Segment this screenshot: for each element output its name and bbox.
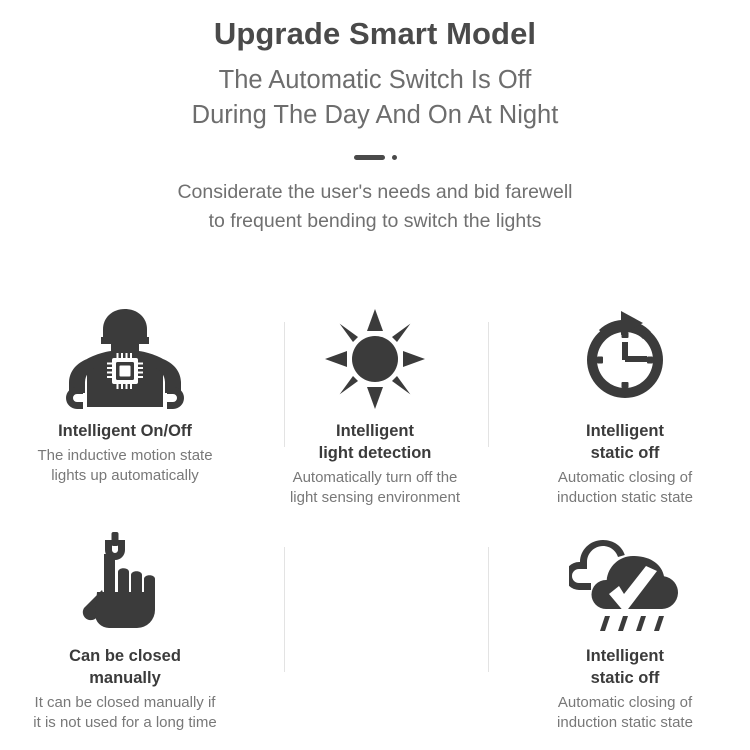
feature-title: Can be closed manually <box>69 645 181 689</box>
divider-dash <box>354 155 385 160</box>
feature-title-line-1: Intelligent <box>586 420 664 442</box>
feature-title: Intelligent static off <box>586 420 664 464</box>
feature-item-intelligent-static-off-1: Intelligent static off Automatic closing… <box>500 300 750 525</box>
feature-description-line-2: light sensing environment <box>290 488 460 508</box>
feature-description-line-1: Automatic closing of <box>557 468 693 488</box>
feature-item-light-detection: Intelligent light detection Automaticall… <box>250 300 500 525</box>
feature-title-line-2: manually <box>69 667 181 689</box>
feature-description: The inductive motion state lights up aut… <box>37 446 212 486</box>
feature-row-2: Can be closed manually It can be closed … <box>0 525 750 750</box>
page-subtitle-line-2: During The Day And On At Night <box>0 98 750 133</box>
feature-title-line-2: static off <box>586 442 664 464</box>
feature-item-intelligent-on-off: Intelligent On/Off The inductive motion … <box>0 300 250 525</box>
feature-title: Intelligent static off <box>586 645 664 689</box>
page-title: Upgrade Smart Model <box>0 12 750 56</box>
tagline-line-2: to frequent bending to switch the lights <box>0 207 750 236</box>
feature-description-line-1: It can be closed manually if <box>33 693 216 713</box>
feature-title-line-1: Can be closed <box>69 645 181 667</box>
feature-title-line-2: static off <box>586 667 664 689</box>
divider-dot <box>392 155 397 160</box>
tagline: Considerate the user's needs and bid far… <box>0 178 750 236</box>
feature-title: Intelligent On/Off <box>58 420 192 442</box>
feature-row-1: Intelligent On/Off The inductive motion … <box>0 300 750 525</box>
feature-item-manual-close: Can be closed manually It can be closed … <box>0 525 250 750</box>
hero-section: Upgrade Smart Model The Automatic Switch… <box>0 0 750 236</box>
feature-title-line-1: Intelligent <box>319 420 432 442</box>
dash-dot-divider <box>340 151 410 163</box>
feature-description-line-1: The inductive motion state <box>37 446 212 466</box>
feature-title: Intelligent light detection <box>319 420 432 464</box>
clock-refresh-icon <box>575 300 675 418</box>
feature-grid: Intelligent On/Off The inductive motion … <box>0 300 750 750</box>
feature-description-line-2: induction static state <box>557 488 693 508</box>
feature-description-line-2: it is not used for a long time <box>33 713 216 733</box>
feature-description: Automatic closing of induction static st… <box>557 468 693 508</box>
feature-description: Automatic closing of induction static st… <box>557 693 693 733</box>
feature-description-line-2: induction static state <box>557 713 693 733</box>
page-subtitle-line-1: The Automatic Switch Is Off <box>0 63 750 98</box>
product-feature-page: Upgrade Smart Model The Automatic Switch… <box>0 0 750 750</box>
rain-cloud-check-icon <box>569 525 681 643</box>
sun-icon <box>325 300 425 418</box>
feature-description-line-1: Automatic closing of <box>557 693 693 713</box>
hand-power-touch-icon <box>75 525 175 643</box>
feature-title-line-1: Intelligent <box>586 645 664 667</box>
page-subtitle: The Automatic Switch Is Off During The D… <box>0 63 750 133</box>
feature-description: It can be closed manually if it is not u… <box>33 693 216 733</box>
feature-title-line-2: light detection <box>319 442 432 464</box>
feature-description-line-2: lights up automatically <box>37 466 212 486</box>
robot-chip-icon <box>61 300 189 418</box>
feature-description: Automatically turn off the light sensing… <box>290 468 460 508</box>
feature-item-intelligent-static-off-2: Intelligent static off Automatic closing… <box>500 525 750 750</box>
tagline-line-1: Considerate the user's needs and bid far… <box>0 178 750 207</box>
feature-description-line-1: Automatically turn off the <box>290 468 460 488</box>
